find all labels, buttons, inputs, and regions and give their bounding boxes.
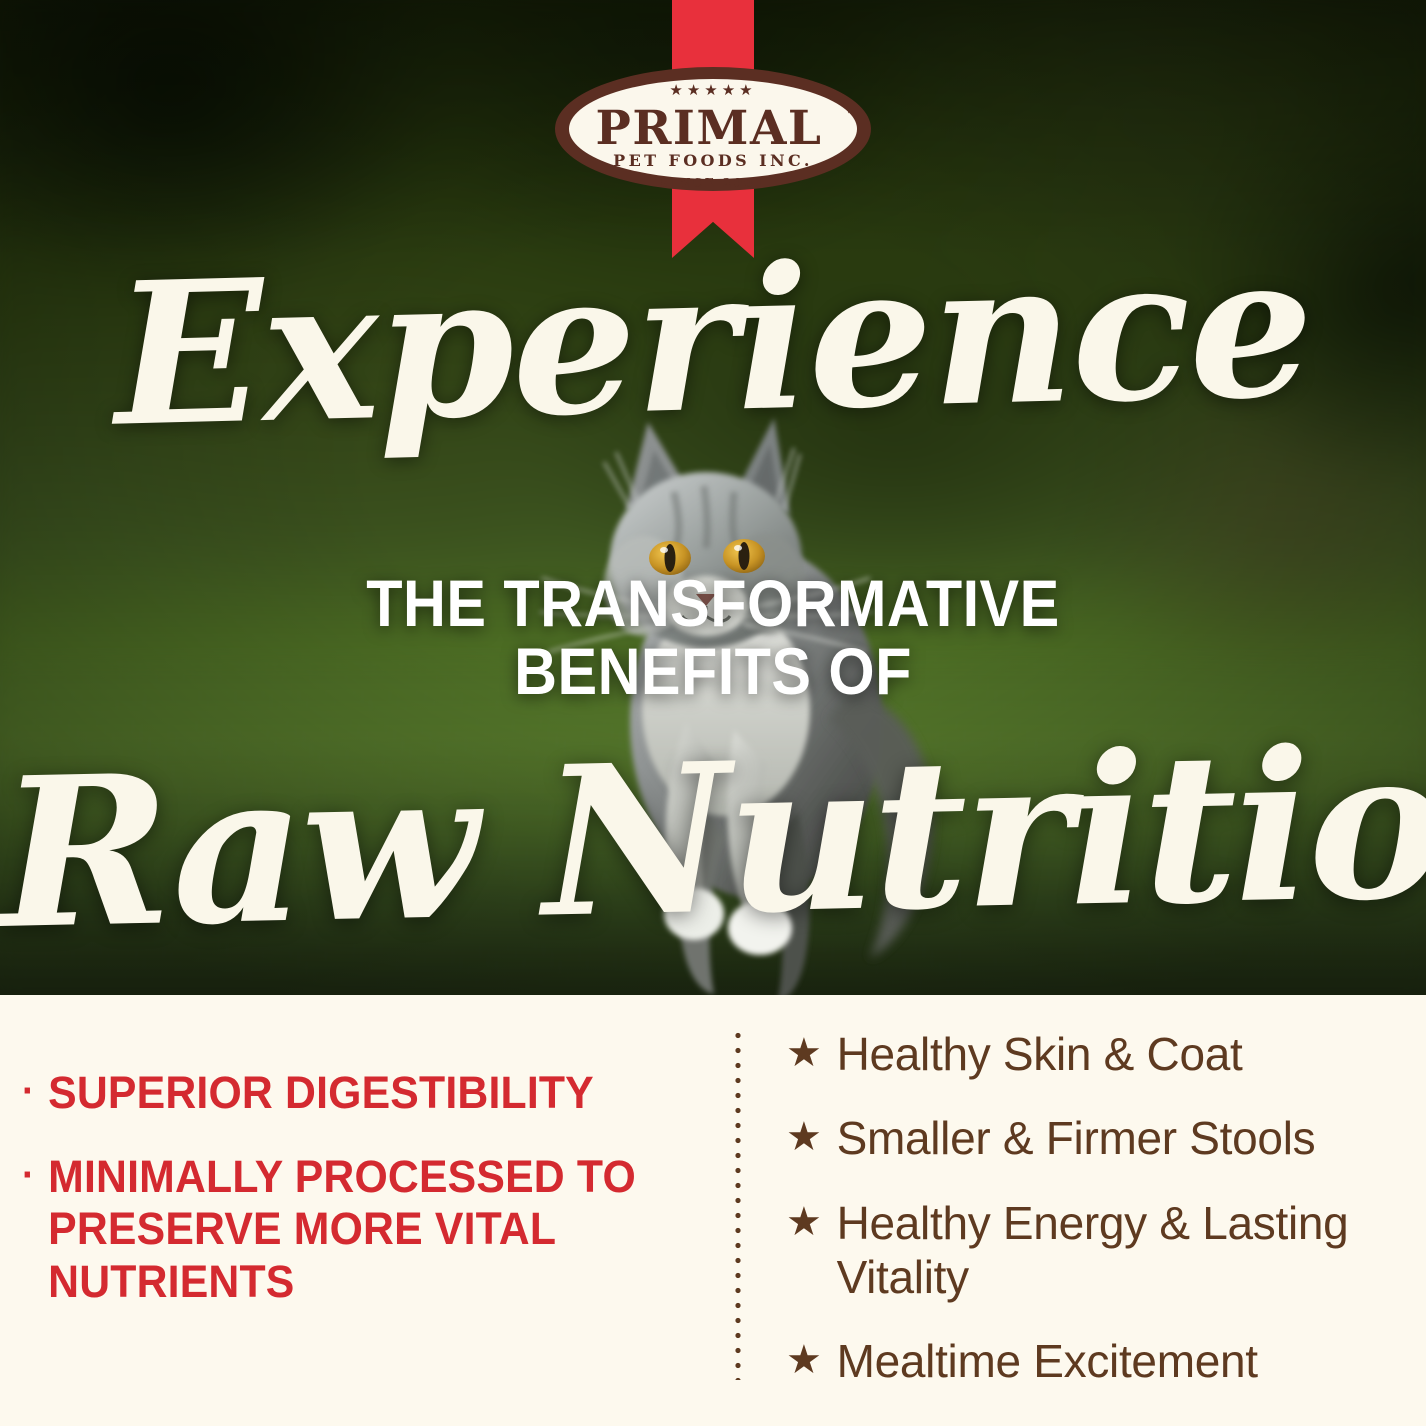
hero-photo: ★★★★★ PRIMAL ™ PET FOODS INC. SINCE 2001… [0,0,1426,995]
headline-subhead: THE TRANSFORMATIVE BENEFITS OF [71,570,1354,706]
benefits-right-column: ★ Healthy Skin & Coat ★ Smaller & Firmer… [786,1027,1406,1418]
star-bullet-icon: ★ [786,1027,822,1081]
bullet-dot-icon: · [22,1067,35,1117]
list-item: ★ Smaller & Firmer Stools [786,1111,1406,1165]
list-item-label: SUPERIOR DIGESTIBILITY [48,1067,594,1119]
list-item: · SUPERIOR DIGESTIBILITY [22,1067,660,1119]
subhead-line-2: BENEFITS OF [71,638,1354,706]
benefits-panel: · SUPERIOR DIGESTIBILITY · MINIMALLY PRO… [0,995,1426,1426]
primal-logo: ★★★★★ PRIMAL ™ PET FOODS INC. SINCE 2001 [551,62,875,197]
logo-trademark: ™ [846,108,857,121]
list-item: ★ Healthy Skin & Coat [786,1027,1406,1081]
list-item-label: Smaller & Firmer Stools [837,1111,1316,1165]
bullet-dot-icon: · [22,1151,35,1201]
column-divider [735,1028,741,1380]
logo-since: SINCE 2001 [660,176,766,190]
logo-wordmark: PRIMAL [596,101,823,156]
star-bullet-icon: ★ [786,1334,822,1388]
headline-script-top: Experience [0,226,1426,457]
list-item: · MINIMALLY PROCESSED TO PRESERVE MORE V… [22,1151,660,1308]
headline-script-bottom: Raw Nutrition [0,721,1426,957]
subhead-line-1: THE TRANSFORMATIVE [71,570,1354,638]
promo-poster: ★★★★★ PRIMAL ™ PET FOODS INC. SINCE 2001… [0,0,1426,1426]
benefits-left-column: · SUPERIOR DIGESTIBILITY · MINIMALLY PRO… [22,1067,694,1340]
list-item-label: Healthy Skin & Coat [837,1027,1243,1081]
list-item: ★ Healthy Energy & Lasting Vitality [786,1196,1406,1305]
logo-tagline: PET FOODS INC. [613,151,813,170]
star-bullet-icon: ★ [786,1196,822,1250]
list-item-label: Mealtime Excitement [837,1334,1258,1388]
list-item: ★ Mealtime Excitement [786,1334,1406,1388]
list-item-label: MINIMALLY PROCESSED TO PRESERVE MORE VIT… [48,1151,660,1308]
list-item-label: Healthy Energy & Lasting Vitality [837,1196,1406,1305]
logo-stars: ★★★★★ [669,81,756,99]
star-bullet-icon: ★ [786,1111,822,1165]
